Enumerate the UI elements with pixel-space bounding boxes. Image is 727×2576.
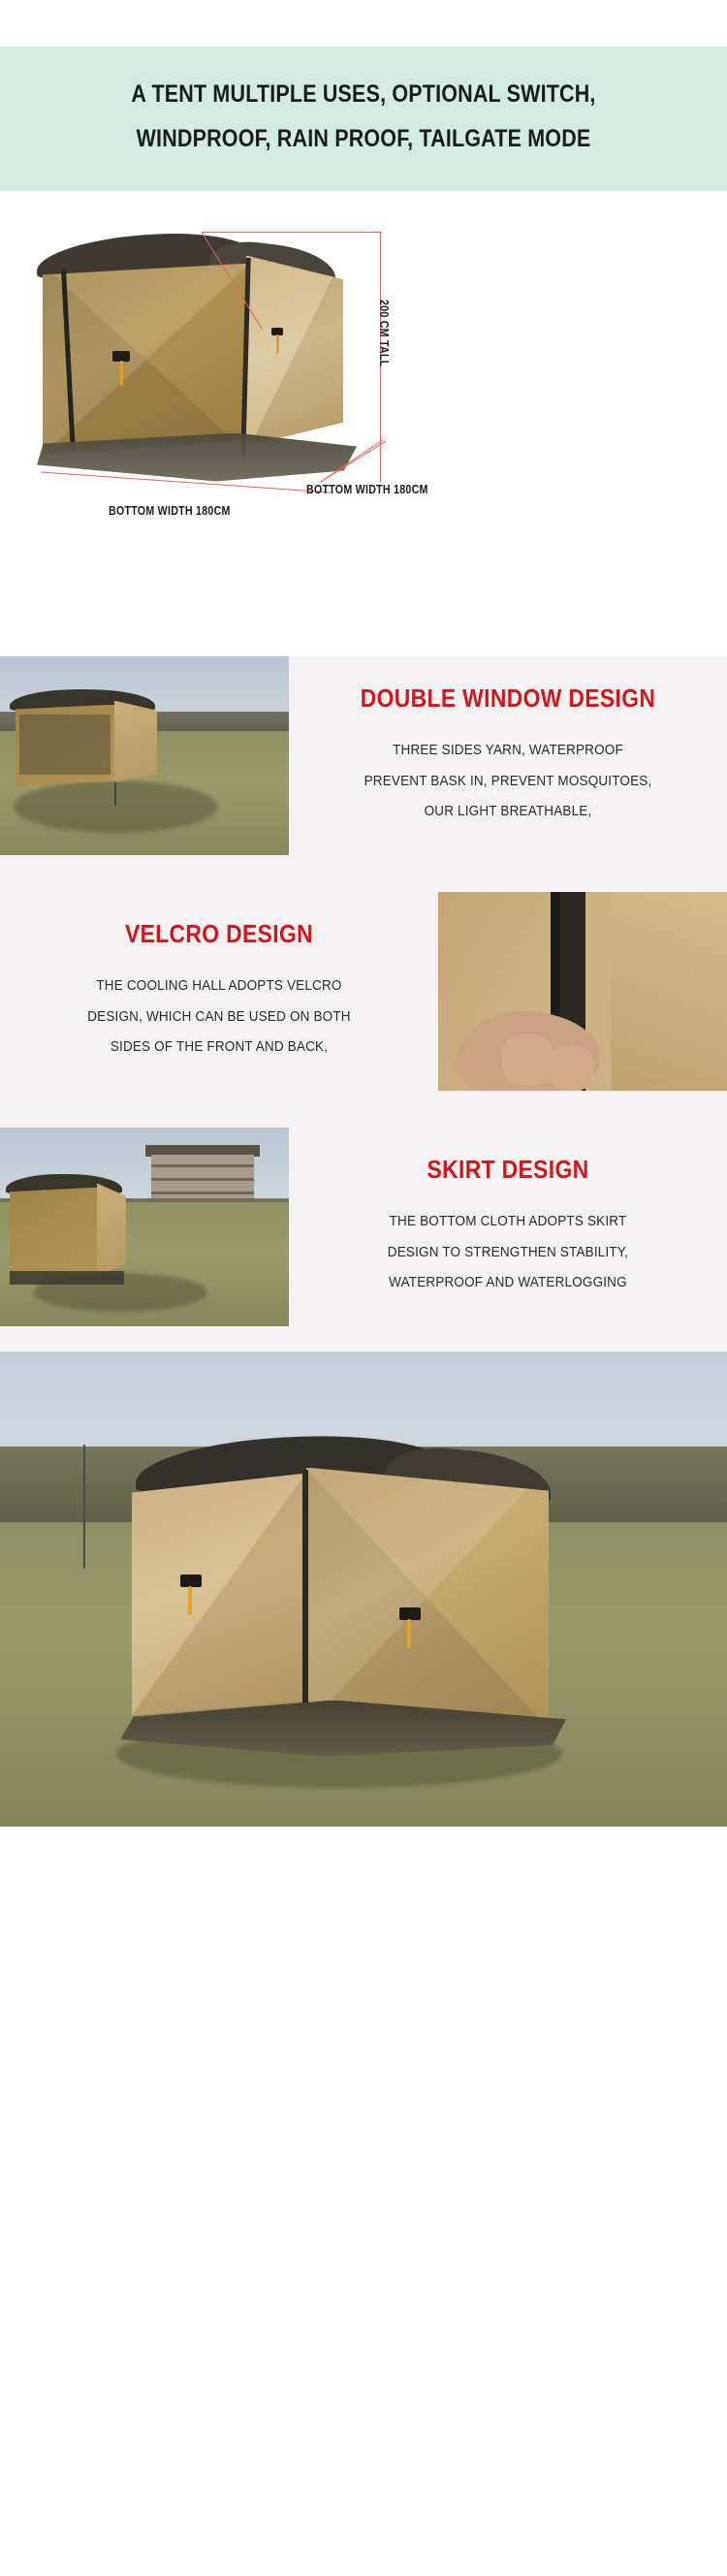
campus-field-scene (0, 1128, 289, 1326)
feature-body-line: THE BOTTOM CLOTH ADOPTS SKIRT (333, 1206, 682, 1237)
bottom-width-label-left: BOTTOM WIDTH 180CM (109, 503, 231, 518)
feature-title: SKIRT DESIGN (337, 1155, 679, 1185)
tent-left-panel (132, 1474, 306, 1716)
field-scene (0, 656, 289, 855)
feature-body-line: WATERPROOF AND WATERLOGGING (333, 1267, 682, 1298)
feature-body-line: THREE SIDES YARN, WATERPROOF (333, 735, 682, 766)
feature-title: VELCRO DESIGN (48, 919, 390, 949)
tent-on-grass-lifestyle-photo (0, 1352, 727, 1827)
measure-line-top (202, 232, 382, 233)
light-pole (83, 1445, 85, 1569)
height-dimension-label: 200 CM TALL (377, 300, 392, 366)
top-white-gap (0, 0, 727, 47)
features-section: DOUBLE WINDOW DESIGN THREE SIDES YARN, W… (0, 656, 727, 1352)
building-floor-line (151, 1178, 254, 1181)
tent-right-panel (306, 1468, 549, 1728)
dimension-diagram-stage: 200 CM TALL BOTTOM WIDTH 180CM BOTTOM WI… (0, 191, 727, 656)
tent-cord-right (407, 1619, 411, 1648)
tent-illustration (37, 235, 357, 506)
feature-body: THE BOTTOM CLOTH ADOPTS SKIRT DESIGN TO … (333, 1206, 682, 1298)
feature-body-line: DESIGN, WHICH CAN BE USED ON BOTH (45, 1002, 394, 1033)
feature-row-double-window: DOUBLE WINDOW DESIGN THREE SIDES YARN, W… (0, 656, 727, 855)
tent-window-toggle-right (399, 1607, 421, 1620)
finger (548, 1046, 594, 1090)
feature-title: DOUBLE WINDOW DESIGN (337, 684, 679, 714)
tent-illustration-large (116, 1437, 572, 1757)
feature-body-line: SIDES OF THE FRONT AND BACK, (45, 1032, 394, 1063)
feature-body-line: PREVENT BASK IN, PREVENT MOSQUITOES, (333, 766, 682, 797)
mini-tent-skirt (10, 1271, 124, 1285)
feature-body-line: THE COOLING HALL ADOPTS VELCRO (45, 970, 394, 1002)
tent-skirt-field-photo (0, 1128, 289, 1326)
feature-spacer (0, 1326, 727, 1352)
headline-line-2: WINDPROOF, RAIN PROOF, TAILGATE MODE (51, 116, 677, 161)
bottom-width-label-right: BOTTOM WIDTH 180CM (306, 482, 428, 496)
tent-corner-seam (302, 1470, 308, 1728)
feature-body: THE COOLING HALL ADOPTS VELCRO DESIGN, W… (45, 970, 394, 1063)
mini-tent-front (10, 1188, 99, 1279)
building-floor-line (151, 1192, 254, 1194)
mini-tent (6, 1174, 132, 1287)
feature-body-line: OUR LIGHT BREATHABLE, (333, 796, 682, 827)
velcro-flap-right (612, 892, 727, 1091)
product-detail-page: A TENT MULTIPLE USES, OPTIONAL SWITCH, W… (0, 0, 727, 1827)
feature-text-velcro: VELCRO DESIGN THE COOLING HALL ADOPTS VE… (0, 919, 438, 1063)
tent-in-field-photo (0, 656, 289, 855)
building-floor-line (151, 1164, 254, 1167)
feature-text-skirt: SKIRT DESIGN THE BOTTOM CLOTH ADOPTS SKI… (289, 1155, 727, 1298)
mini-tent-mesh-window (19, 715, 111, 775)
headline-line-1: A TENT MULTIPLE USES, OPTIONAL SWITCH, (51, 72, 677, 116)
feature-row-skirt: SKIRT DESIGN THE BOTTOM CLOTH ADOPTS SKI… (0, 1128, 727, 1326)
tent-cord-right (276, 334, 279, 354)
mini-tent-side (97, 1184, 126, 1277)
dimension-diagram-section: 200 CM TALL BOTTOM WIDTH 180CM BOTTOM WI… (0, 191, 727, 656)
tent-cord-left (120, 361, 123, 386)
velcro-closeup-photo (438, 892, 727, 1091)
tent-window-toggle-left (112, 351, 130, 362)
feature-body-line: DESIGN TO STRENGTHEN STABILITY, (333, 1237, 682, 1268)
feature-row-velcro: VELCRO DESIGN THE COOLING HALL ADOPTS VE… (0, 892, 727, 1091)
finger (502, 1034, 554, 1086)
velcro-closeup-scene (438, 892, 727, 1091)
tent-cord-left (188, 1586, 192, 1615)
feature-spacer (0, 1091, 727, 1128)
tent-window-toggle-left (180, 1574, 202, 1587)
mini-tent-side (114, 701, 157, 784)
feature-body: THREE SIDES YARN, WATERPROOF PREVENT BAS… (333, 735, 682, 827)
feature-spacer (0, 855, 727, 892)
mini-tent (10, 689, 165, 794)
headline-banner: A TENT MULTIPLE USES, OPTIONAL SWITCH, W… (0, 47, 727, 191)
feature-text-double-window: DOUBLE WINDOW DESIGN THREE SIDES YARN, W… (289, 684, 727, 827)
tent-side-panel (246, 256, 343, 455)
